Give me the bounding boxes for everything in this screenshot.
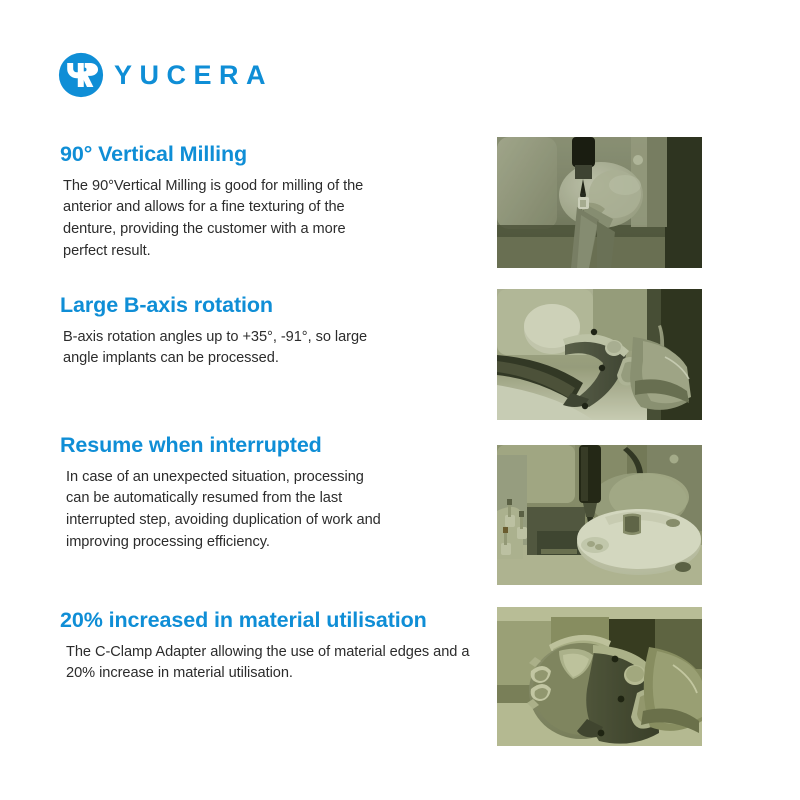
photo-b-axis-rotation-image bbox=[497, 289, 702, 420]
feature-text-4: 20% increased in material utilisation Th… bbox=[60, 608, 500, 685]
photo-resume-interrupted-image bbox=[497, 445, 702, 585]
product-feature-page: YUCERA 90° Vertical Milling The 90°Verti… bbox=[0, 0, 800, 800]
feature-title-4: 20% increased in material utilisation bbox=[60, 608, 500, 633]
feature-body-2: B-axis rotation angles up to +35°, -91°,… bbox=[60, 327, 400, 370]
photo-resume-interrupted bbox=[497, 445, 702, 585]
feature-text-1: 90° Vertical Milling The 90°Vertical Mil… bbox=[60, 142, 390, 262]
feature-body-4: The C-Clamp Adapter allowing the use of … bbox=[60, 642, 500, 685]
feature-body-1: The 90°Vertical Milling is good for mill… bbox=[60, 176, 390, 262]
photo-vertical-milling-image bbox=[497, 137, 702, 268]
photo-c-clamp-adapter-image bbox=[497, 607, 702, 746]
brand-wordmark: YUCERA bbox=[114, 62, 273, 89]
yucera-yr-monogram-icon bbox=[58, 52, 104, 98]
feature-body-3: In case of an unexpected situation, proc… bbox=[60, 467, 390, 553]
feature-title-2: Large B-axis rotation bbox=[60, 293, 400, 318]
feature-title-3: Resume when interrupted bbox=[60, 433, 390, 458]
feature-text-2: Large B-axis rotation B-axis rotation an… bbox=[60, 293, 400, 370]
photo-b-axis-rotation bbox=[497, 289, 702, 420]
photo-vertical-milling bbox=[497, 137, 702, 268]
feature-text-3: Resume when interrupted In case of an un… bbox=[60, 433, 390, 553]
photo-c-clamp-adapter bbox=[497, 607, 702, 746]
brand-logo: YUCERA bbox=[58, 52, 273, 98]
feature-title-1: 90° Vertical Milling bbox=[60, 142, 390, 167]
